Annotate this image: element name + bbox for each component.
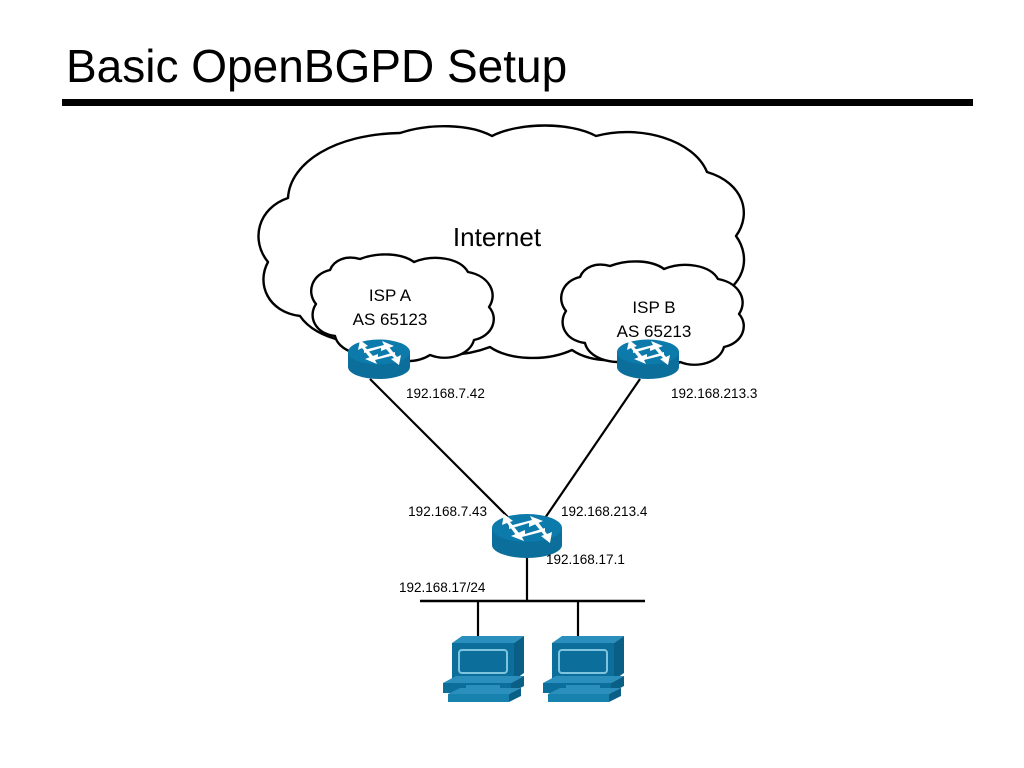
isp-a-label-line2: AS 65123 <box>353 310 428 329</box>
isp-a-router[interactable] <box>348 340 410 380</box>
isp-b-label-line2: AS 65213 <box>617 322 692 341</box>
label-isp-a-interface-ip: 192.168.7.42 <box>406 386 485 401</box>
router-icon <box>348 340 410 380</box>
internet-cloud-label: Internet <box>453 222 542 252</box>
label-edge-uplink-a-ip: 192.168.7.43 <box>408 504 487 519</box>
label-edge-uplink-b-ip: 192.168.213.4 <box>561 504 648 519</box>
label-edge-lan-ip: 192.168.17.1 <box>546 552 625 567</box>
isp-b-label-line1: ISP B <box>632 298 675 317</box>
link-isp-b-to-edge <box>545 379 640 518</box>
router-icon <box>617 340 679 380</box>
network-topology-diagram: Internet ISP A AS 65123 ISP B AS 65213 <box>0 0 1024 768</box>
label-isp-b-interface-ip: 192.168.213.3 <box>671 386 757 401</box>
slide-canvas: Basic OpenBGPD Setup Internet ISP A AS 6… <box>0 0 1024 768</box>
isp-b-router[interactable] <box>617 340 679 380</box>
isp-a-label-line1: ISP A <box>369 286 412 305</box>
workstation-icon <box>543 636 624 702</box>
workstation-icon <box>443 636 524 702</box>
workstation-2[interactable] <box>543 636 624 702</box>
label-lan-subnet: 192.168.17/24 <box>399 580 486 595</box>
workstation-1[interactable] <box>443 636 524 702</box>
